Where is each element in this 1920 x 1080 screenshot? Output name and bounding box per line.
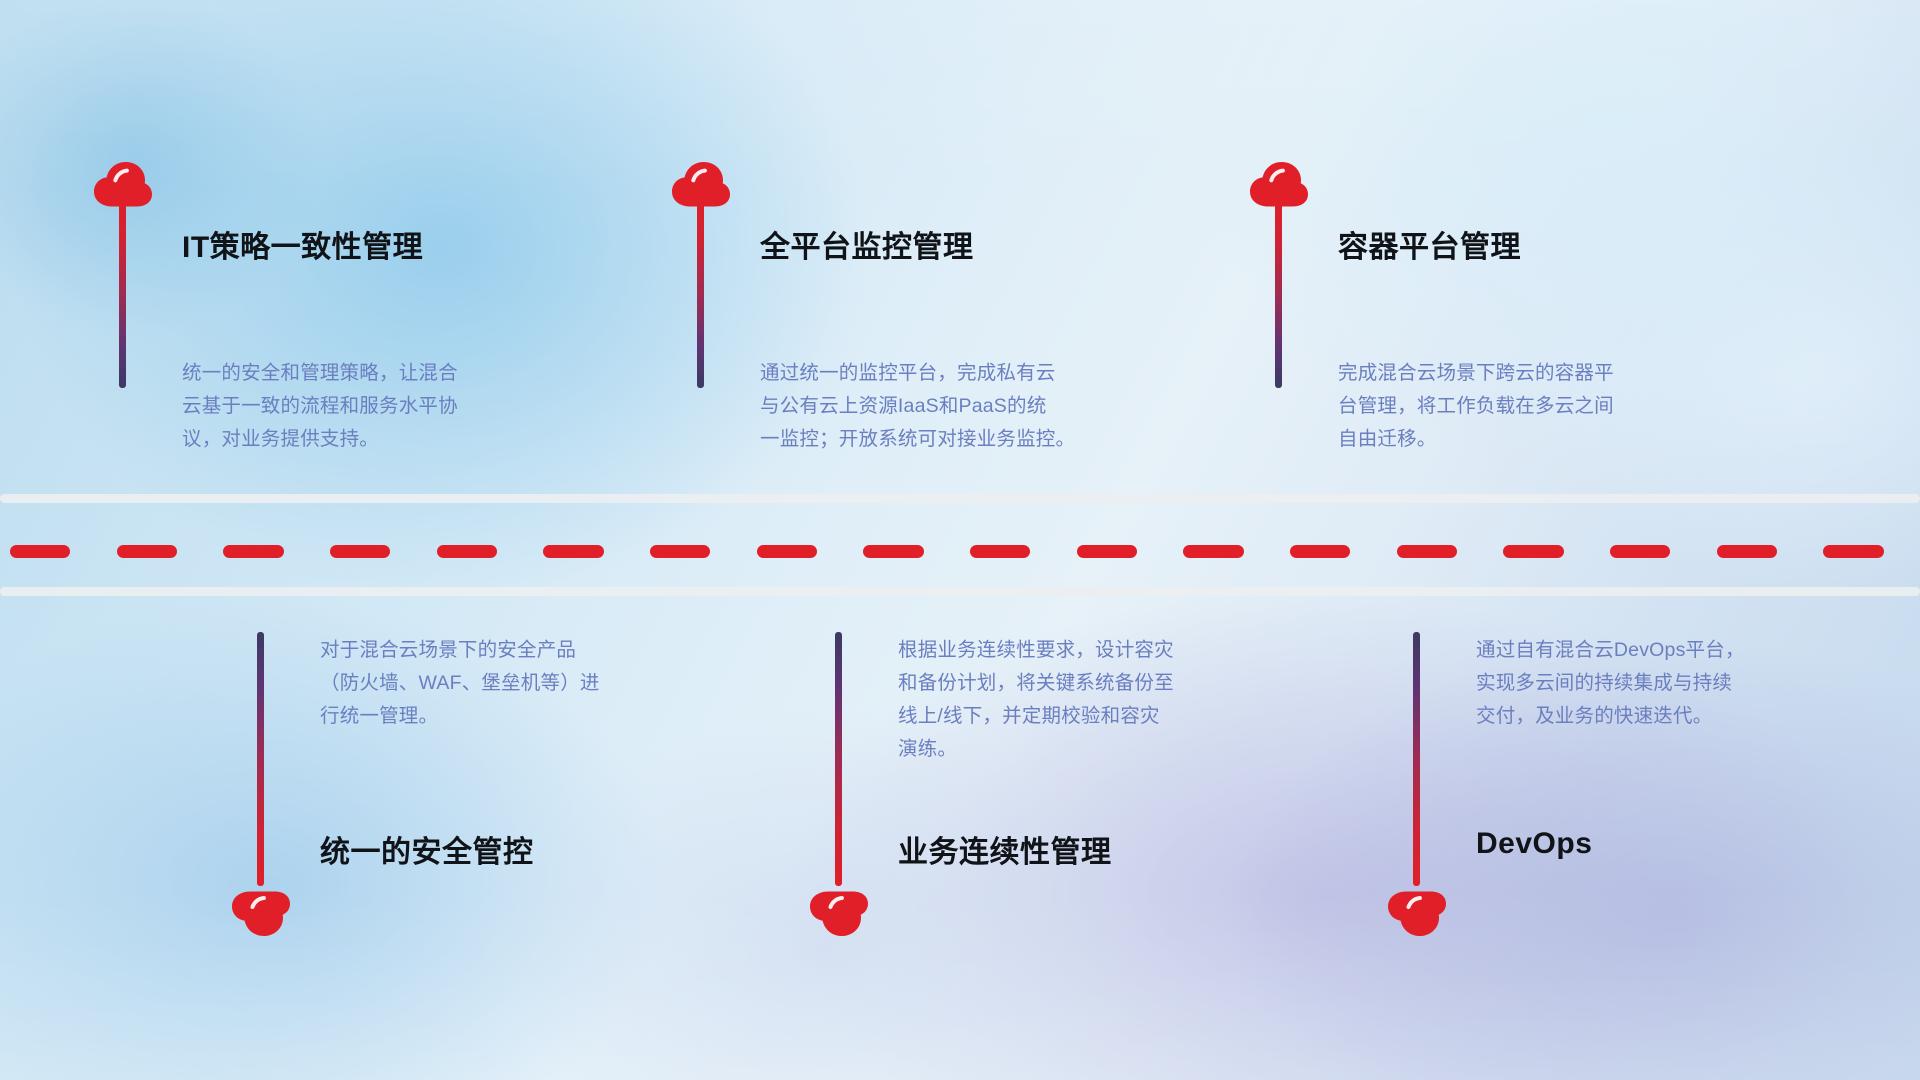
road-dash [757, 545, 817, 558]
card-title: 业务连续性管理 [898, 827, 1112, 871]
card-body: 统一的安全和管理策略，让混合 云基于一致的流程和服务水平协 议，对业务提供支持。 [182, 357, 612, 456]
card-body: 对于混合云场景下的安全产品 （防火墙、WAF、堡垒机等）进 行统一管理。 [320, 634, 750, 733]
road-dashes [0, 545, 1920, 558]
road-dash [650, 545, 710, 558]
road-dash [1503, 545, 1563, 558]
connector-line [697, 200, 704, 388]
card-title: 全平台监控管理 [760, 222, 974, 266]
connector-line [119, 200, 126, 388]
card-title: DevOps [1476, 827, 1592, 861]
road-dash [1183, 545, 1243, 558]
road-dash [1397, 545, 1457, 558]
road-dash [863, 545, 923, 558]
card-body: 完成混合云场景下跨云的容器平 台管理，将工作负载在多云之间 自由迁移。 [1338, 357, 1768, 456]
card-title: 统一的安全管控 [320, 827, 534, 871]
cloud-icon [808, 890, 870, 938]
road-dash [1610, 545, 1670, 558]
road-dash [437, 545, 497, 558]
infographic-canvas: IT策略一致性管理 统一的安全和管理策略，让混合 云基于一致的流程和服务水平协 … [0, 0, 1920, 1080]
connector-line [1275, 200, 1282, 388]
road-dash [223, 545, 283, 558]
road-dash [970, 545, 1030, 558]
road-dash [10, 545, 70, 558]
road-dash [117, 545, 177, 558]
cloud-icon [1386, 890, 1448, 938]
connector-line [835, 632, 842, 886]
road-dash [1077, 545, 1137, 558]
card-body: 根据业务连续性要求，设计容灾 和备份计划，将关键系统备份至 线上/线下，并定期校… [898, 634, 1328, 766]
connector-line [1413, 632, 1420, 886]
road-dash [1717, 545, 1777, 558]
card-body: 通过自有混合云DevOps平台， 实现多云间的持续集成与持续 交付，及业务的快速… [1476, 634, 1906, 733]
road-line-bottom [0, 587, 1920, 596]
cloud-icon [230, 890, 292, 938]
card-title: IT策略一致性管理 [182, 222, 423, 266]
road-dash [1290, 545, 1350, 558]
road-dash [1823, 545, 1883, 558]
connector-line [257, 632, 264, 886]
card-body: 通过统一的监控平台，完成私有云 与公有云上资源IaaS和PaaS的统 一监控；开… [760, 357, 1200, 456]
road-line-top [0, 494, 1920, 503]
road-dash [543, 545, 603, 558]
card-title: 容器平台管理 [1338, 222, 1521, 266]
road-dash [330, 545, 390, 558]
